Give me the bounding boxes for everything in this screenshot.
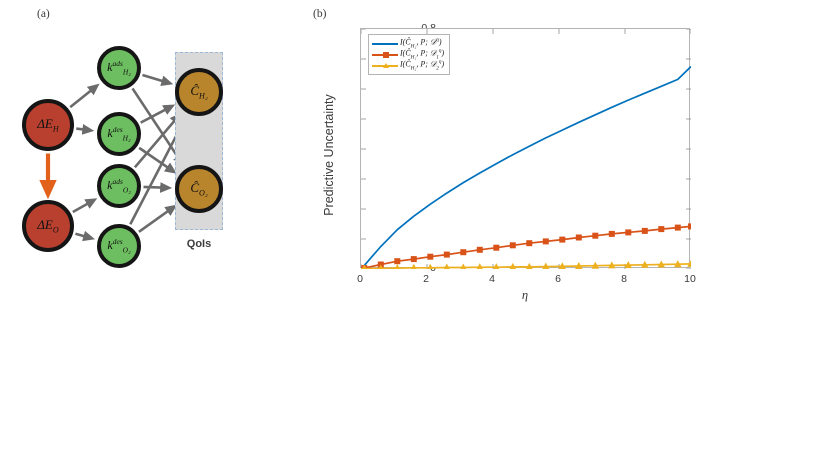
x-tick-label: 8 — [609, 273, 639, 285]
graph-edge-kadsO-to-CO — [143, 187, 168, 188]
chart-data-marker — [543, 239, 548, 244]
chart-data-marker — [593, 233, 598, 238]
legend-color-swatch — [372, 60, 398, 71]
graph-node-dEO: ΔEO — [22, 200, 74, 252]
graph-edge-dEO-to-kadsO — [73, 200, 94, 212]
causal-graph-diagram: ΔEHΔEOkadsH₂kdesH₂kadsO₂kdesO₂ĈH₂ĈO₂ QoI… — [0, 0, 300, 300]
x-axis-label: η — [360, 288, 690, 303]
graph-edge-kdesO-to-CO — [139, 207, 174, 232]
chart-data-marker — [444, 252, 449, 257]
graph-edge-dEH-to-kadsH — [70, 86, 97, 107]
predictive-uncertainty-chart: Predictive Uncertainty η 00.10.20.30.40.… — [300, 0, 830, 320]
chart-data-marker — [411, 257, 416, 262]
chart-series-line-1 — [361, 226, 691, 269]
chart-data-marker — [494, 245, 499, 250]
chart-data-marker — [642, 228, 647, 233]
graph-node-dEH: ΔEH — [22, 99, 74, 151]
legend-color-swatch — [372, 49, 398, 60]
chart-data-marker — [688, 224, 691, 229]
chart-data-marker — [510, 243, 515, 248]
chart-data-marker — [461, 250, 466, 255]
graph-node-kadsO: kadsO₂ — [97, 164, 141, 208]
chart-data-marker — [560, 237, 565, 242]
chart-data-marker — [477, 247, 482, 252]
chart-data-marker — [609, 231, 614, 236]
chart-series-line-2 — [361, 264, 691, 269]
chart-data-marker — [428, 254, 433, 259]
graph-node-label: ΔEH — [37, 117, 58, 134]
chart-data-marker — [411, 265, 417, 269]
graph-node-label: ĈH₂ — [190, 84, 207, 101]
graph-node-label: kadsH₂ — [107, 60, 131, 76]
x-tick-label: 0 — [345, 273, 375, 285]
x-tick-label: 4 — [477, 273, 507, 285]
graph-node-CH: ĈH₂ — [175, 68, 223, 116]
chart-legend: I(ĈH₂, P; 𝒟η)I(ĈH₂, P; 𝒟1η)I(ĈH₂, P; 𝒟2η… — [368, 34, 450, 75]
graph-node-label: ΔEO — [37, 218, 58, 235]
chart-data-marker — [394, 265, 400, 269]
chart-data-marker — [527, 241, 532, 246]
x-tick-label: 10 — [675, 273, 705, 285]
graph-node-kdesH: kdesH₂ — [97, 112, 141, 156]
qoi-caption: QoIs — [175, 238, 223, 250]
graph-node-kadsH: kadsH₂ — [97, 46, 141, 90]
graph-node-kdesO: kdesO₂ — [97, 224, 141, 268]
x-tick-label: 2 — [411, 273, 441, 285]
legend-item-2[interactable]: I(ĈH₂, P; 𝒟2η) — [372, 60, 444, 71]
graph-node-label: kdesH₂ — [107, 126, 130, 142]
graph-node-CO: ĈO₂ — [175, 165, 223, 213]
chart-data-marker — [659, 227, 664, 232]
graph-edge-kadsH-to-CH — [142, 75, 169, 83]
graph-node-label: kadsO₂ — [107, 178, 131, 194]
graph-edge-dEH-to-kdesH — [76, 129, 90, 131]
chart-data-marker — [576, 235, 581, 240]
x-tick-label: 6 — [543, 273, 573, 285]
legend-color-swatch — [372, 38, 398, 49]
chart-data-marker — [427, 265, 433, 269]
legend-item-0[interactable]: I(ĈH₂, P; 𝒟η) — [372, 38, 444, 49]
graph-node-label: ĈO₂ — [190, 181, 207, 198]
chart-data-marker — [675, 225, 680, 230]
chart-series-line-0 — [361, 67, 691, 270]
chart-data-marker — [395, 259, 400, 264]
y-axis-label: Predictive Uncertainty — [322, 40, 336, 270]
graph-node-label: kdesO₂ — [107, 238, 130, 254]
legend-label: I(ĈH₂, P; 𝒟2η) — [398, 59, 444, 71]
chart-data-marker — [626, 230, 631, 235]
chart-data-marker — [444, 264, 450, 269]
legend-item-1[interactable]: I(ĈH₂, P; 𝒟1η) — [372, 49, 444, 60]
graph-edge-dEO-to-kdesO — [75, 234, 91, 239]
